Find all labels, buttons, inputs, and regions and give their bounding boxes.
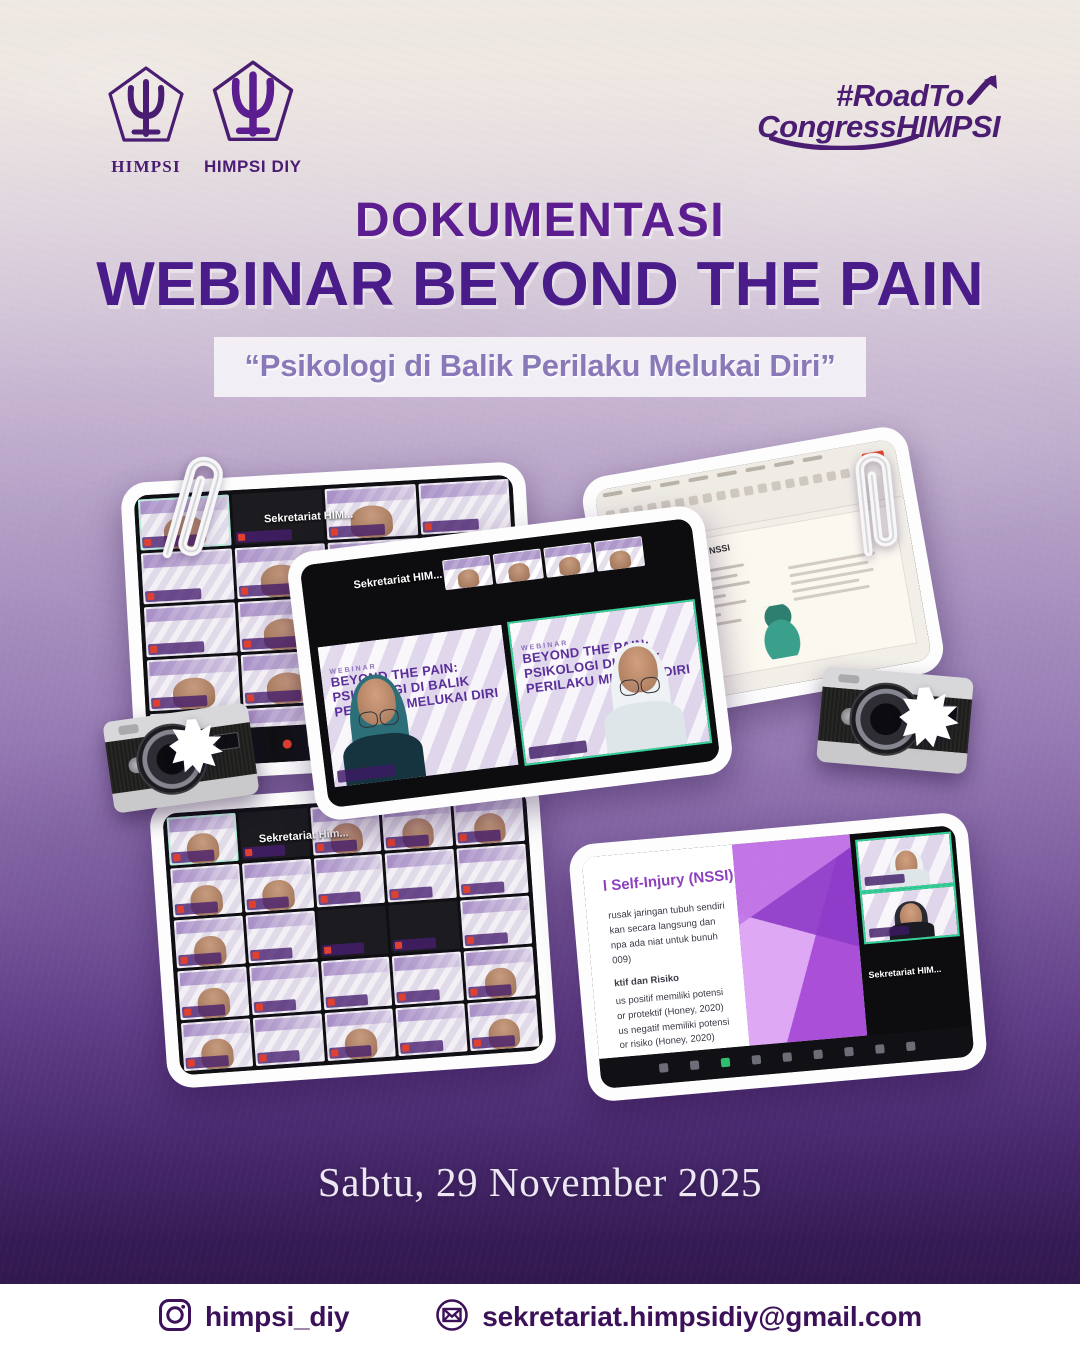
participant-tile — [418, 479, 511, 535]
toolbar-more-button[interactable] — [905, 1042, 915, 1052]
instagram-icon — [158, 1298, 192, 1337]
email-contact[interactable]: sekretariat.himpsidiy@gmail.com — [435, 1298, 922, 1337]
slide-title: l Self-Injury (NSSI) — [602, 867, 734, 895]
participant-tile — [177, 967, 249, 1020]
zoom-host-label: Sekretariat HIM... — [868, 964, 942, 980]
participant-thumb — [492, 549, 543, 585]
participant-tile — [464, 947, 536, 1000]
starburst-sticker-icon — [898, 686, 960, 748]
paperclip-right — [836, 433, 919, 564]
instagram-contact[interactable]: himpsi_diy — [158, 1298, 349, 1337]
participant-tile — [181, 1018, 253, 1071]
toolbar-polls-button[interactable] — [751, 1055, 761, 1065]
toolbar-participants-button[interactable] — [782, 1053, 792, 1063]
participant-tile — [457, 844, 529, 897]
toolbar-react-button[interactable] — [689, 1061, 699, 1071]
toolbar-meeting-info-button[interactable] — [813, 1050, 823, 1060]
himpsi-diy-logo: HIMPSI DIY — [204, 58, 302, 177]
participant-tile — [857, 834, 953, 890]
participant-tile — [460, 895, 532, 948]
participant-thumb — [543, 542, 594, 578]
participant-tile — [396, 1003, 468, 1056]
himpsi-diy-logo-caption: HIMPSI DIY — [204, 157, 302, 177]
toolbar-apps-button[interactable] — [844, 1047, 854, 1057]
page-title: WEBINAR BEYOND THE PAIN — [0, 252, 1080, 317]
swoosh-underline-icon — [769, 124, 919, 155]
participant-tile — [245, 910, 317, 963]
participant-tile — [147, 656, 240, 712]
speaker-tile-right: WEBINAR BEYOND THE PAIN: PSIKOLOGI DI BA… — [509, 601, 710, 764]
campaign-line-1: #RoadTo — [836, 80, 964, 111]
participant-tile — [321, 957, 393, 1010]
starburst-right — [898, 686, 960, 748]
speaker-tile-left: WEBINAR BEYOND THE PAIN: PSIKOLOGI DI BA… — [318, 625, 519, 788]
photo-collage: Sekretariat HIM... F. Ass — [0, 430, 1080, 1130]
participant-tile — [249, 962, 321, 1015]
shared-slide: l Self-Injury (NSSI) rusak jaringan tubu… — [582, 834, 868, 1059]
participant-tile — [242, 859, 314, 912]
title-block: DOKUMENTASI WEBINAR BEYOND THE PAIN “Psi… — [0, 196, 1080, 397]
event-date: Sabtu, 29 November 2025 — [0, 1158, 1080, 1206]
logo-group: HIMPSI HIMPSI DIY — [106, 58, 302, 177]
page-subtitle: “Psikologi di Balik Perilaku Melukai Dir… — [244, 348, 835, 383]
slide-body: rusak jaringan tubuh sendiri kan secara … — [608, 898, 760, 1054]
participant-tile — [167, 813, 239, 866]
arrow-up-right-icon — [966, 72, 1000, 111]
psi-trident-crest-icon — [210, 58, 296, 150]
participant-tile — [174, 915, 246, 968]
instagram-handle: himpsi_diy — [205, 1301, 349, 1333]
participant-tile — [385, 849, 457, 902]
himpsi-logo-caption: HIMPSI — [111, 157, 181, 177]
envelope-icon — [435, 1298, 469, 1337]
photo-zoom-gallery-bottom-left[interactable]: Sekretariat Him... — [148, 775, 557, 1090]
paperclip-icon — [836, 433, 919, 564]
participant-thumb — [442, 555, 493, 591]
participant-tile — [389, 900, 461, 953]
participant-tile — [467, 998, 539, 1051]
participant-tile — [170, 864, 242, 917]
speaker-portrait — [598, 638, 685, 754]
page-title-eyebrow: DOKUMENTASI — [0, 196, 1080, 246]
himpsi-logo: HIMPSI — [106, 64, 186, 177]
toolbar-chat-button[interactable] — [658, 1063, 668, 1073]
subtitle-band: “Psikologi di Balik Perilaku Melukai Dir… — [214, 337, 865, 397]
starburst-sticker-icon — [168, 718, 224, 774]
poster-canvas: HIMPSI HIMPSI DIY #RoadTo — [0, 0, 1080, 1350]
participant-tile — [324, 1008, 396, 1061]
toolbar-share-button[interactable] — [720, 1058, 730, 1068]
photo-slide-nssi-bottom-right[interactable]: l Self-Injury (NSSI) rusak jaringan tubu… — [568, 811, 989, 1103]
slide-illustration — [747, 600, 814, 662]
participant-tile — [317, 905, 389, 958]
participant-tile — [392, 952, 464, 1005]
participant-thumb — [594, 536, 645, 572]
participant-tile — [861, 886, 957, 942]
photo-two-speakers-center[interactable]: Sekretariat HIM... WEBINAR BEYOND THE PA… — [285, 503, 735, 822]
participant-tile — [144, 602, 237, 658]
footer-contact-bar: himpsi_diy sekretariat.himpsidiy@gmail.c… — [0, 1284, 1080, 1350]
participant-tile — [253, 1013, 325, 1066]
email-address: sekretariat.himpsidiy@gmail.com — [482, 1301, 922, 1333]
road-to-congress-badge: #RoadTo CongressHIMPSI — [757, 72, 1000, 142]
psi-trident-crest-icon — [106, 64, 186, 150]
starburst-left — [168, 718, 224, 774]
toolbar-record-button[interactable] — [875, 1045, 885, 1055]
participant-tile — [313, 854, 385, 907]
